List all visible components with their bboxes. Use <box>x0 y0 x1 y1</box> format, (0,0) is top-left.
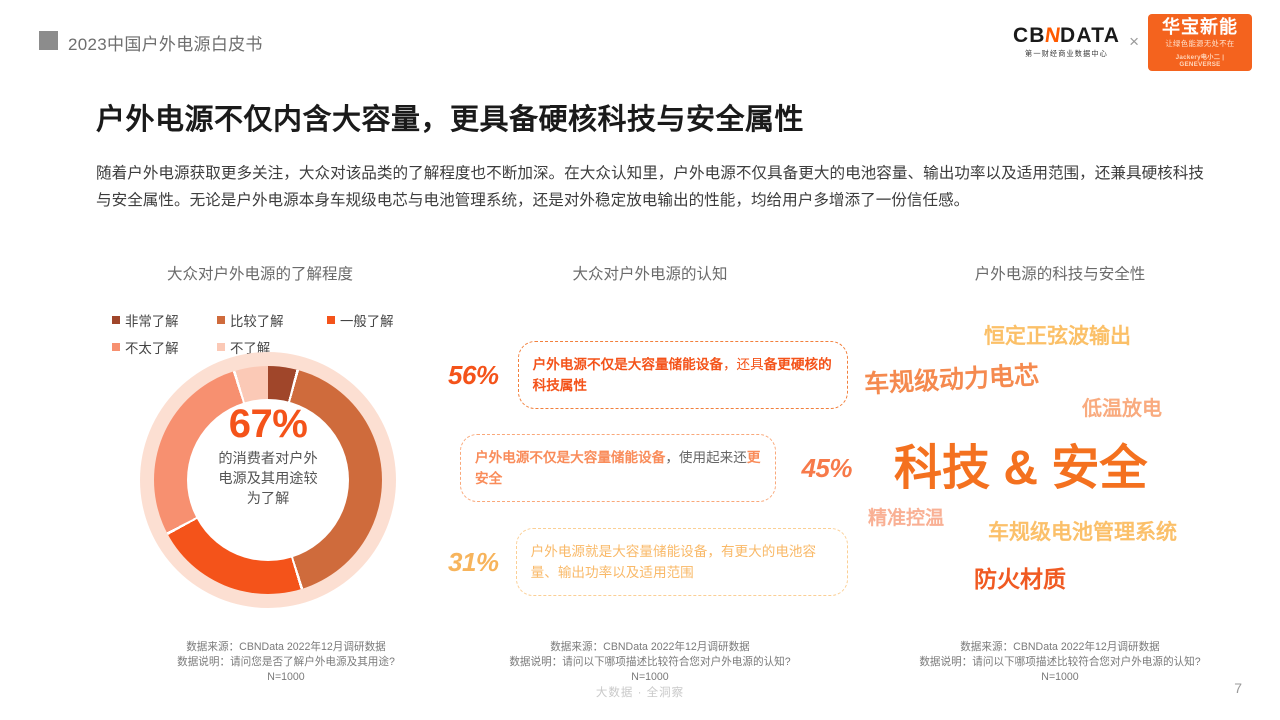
insight-bubble-56[interactable]: 户外电源不仅是大容量储能设备，还具备更硬核的科技属性 <box>518 341 848 409</box>
cbndata-wordmark: CBNDATA <box>1013 25 1120 46</box>
document-label: 2023中国户外电源白皮书 <box>68 30 263 55</box>
cbndata-subtitle: 第一财经商业数据中心 <box>1025 49 1108 59</box>
legend-swatch-icon-0 <box>112 316 120 324</box>
column-left: 大众对户外电源的了解程度 <box>60 262 460 284</box>
footnote-right: 数据来源：CBNData 2022年12月调研数据数据说明：请问以下哪项描述比较… <box>856 640 1264 685</box>
legend-swatch-icon-1 <box>217 316 225 324</box>
legend-item-1[interactable]: 比较了解 <box>217 310 327 330</box>
donut-chart: 67% 的消费者对户外电源及其用途较为了解 <box>140 352 396 608</box>
word-cloud-term-5: 车规级电池管理系统 <box>988 516 1177 546</box>
insight-percent-31: 31% <box>448 547 516 578</box>
page-header: 2023中国户外电源白皮书 CBNDATA 第一财经商业数据中心 × 华宝新能 … <box>0 0 1280 72</box>
huabao-name: 华宝新能 <box>1155 18 1245 37</box>
legend-label-1: 比较了解 <box>230 310 284 330</box>
word-cloud-term-2: 低温放电 <box>1082 392 1162 421</box>
logo-group: CBNDATA 第一财经商业数据中心 × 华宝新能 让绿色能源无处不在 Jack… <box>1013 14 1252 71</box>
page-number: 7 <box>1234 680 1242 696</box>
intro-paragraph: 随着户外电源获取更多关注，大众对该品类的了解程度也不断加深。在大众认知里，户外电… <box>96 160 1204 214</box>
left-column-heading: 大众对户外电源的了解程度 <box>60 262 460 284</box>
word-cloud-term-4: 精准控温 <box>868 503 944 530</box>
legend-swatch-icon-2 <box>327 316 335 324</box>
watermark: 大数据 · 全洞察 <box>0 684 1280 700</box>
legend-label-0: 非常了解 <box>125 310 179 330</box>
page-title: 户外电源不仅内含大容量，更具备硬核科技与安全属性 <box>96 96 804 138</box>
insight-bubble-45[interactable]: 户外电源不仅是大容量储能设备，使用起来还更安全 <box>460 434 776 502</box>
footnote-mid: 数据来源：CBNData 2022年12月调研数据数据说明：请问以下哪项描述比较… <box>448 640 852 685</box>
legend-row-1: 非常了解 比较了解 一般了解 <box>112 310 442 330</box>
legend-item-2[interactable]: 一般了解 <box>327 310 394 330</box>
donut-center-percent: 67% <box>186 404 350 444</box>
word-cloud-term-0: 恒定正弦波输出 <box>984 320 1131 350</box>
cbndata-x-glyph: N <box>1043 25 1062 46</box>
footnote-left: 数据来源：CBNData 2022年12月调研数据数据说明：请问您是否了解户外电… <box>76 640 496 685</box>
column-right: 户外电源的科技与安全性 <box>856 262 1264 284</box>
donut-center-block: 67% 的消费者对户外电源及其用途较为了解 <box>186 404 350 509</box>
word-cloud-term-1: 车规级动力电芯 <box>863 355 1040 400</box>
word-cloud-term-6: 防火材质 <box>974 560 1066 594</box>
insight-percent-45: 45% <box>776 453 852 484</box>
insight-bubble-31[interactable]: 户外电源就是大容量储能设备，有更大的电池容量、输出功率以及适用范围 <box>516 528 848 596</box>
insight-row-31: 31% 户外电源就是大容量储能设备，有更大的电池容量、输出功率以及适用范围 <box>448 528 848 596</box>
insight-text-31: 户外电源就是大容量储能设备，有更大的电池容量、输出功率以及适用范围 <box>531 541 833 583</box>
legend-label-2: 一般了解 <box>340 310 394 330</box>
insight-row-45: 户外电源不仅是大容量储能设备，使用起来还更安全 45% <box>460 434 856 502</box>
word-cloud: 恒定正弦波输出车规级动力电芯低温放电科技 & 安全精准控温车规级电池管理系统防火… <box>856 320 1266 610</box>
insight-percent-56: 56% <box>448 360 518 391</box>
legend-swatch-icon-4 <box>217 343 225 351</box>
insight-text-45: 户外电源不仅是大容量储能设备，使用起来还更安全 <box>475 447 761 489</box>
mid-column-heading: 大众对户外电源的认知 <box>448 262 852 284</box>
huabao-slogan: 让绿色能源无处不在 <box>1155 39 1245 49</box>
huabao-logo: 华宝新能 让绿色能源无处不在 Jackery电小二 | GENEVERSE <box>1148 14 1252 71</box>
insight-text-56: 户外电源不仅是大容量储能设备，还具备更硬核的科技属性 <box>533 354 833 396</box>
header-square-marker <box>39 31 58 50</box>
huabao-brands: Jackery电小二 | GENEVERSE <box>1155 52 1245 68</box>
column-middle: 大众对户外电源的认知 <box>448 262 852 284</box>
right-column-heading: 户外电源的科技与安全性 <box>856 262 1264 284</box>
legend-swatch-icon-3 <box>112 343 120 351</box>
word-cloud-term-3: 科技 & 安全 <box>894 428 1147 498</box>
legend-item-0[interactable]: 非常了解 <box>112 310 217 330</box>
cbndata-logo: CBNDATA 第一财经商业数据中心 <box>1013 25 1120 59</box>
insight-row-56: 56% 户外电源不仅是大容量储能设备，还具备更硬核的科技属性 <box>448 341 848 409</box>
donut-center-caption: 的消费者对户外电源及其用途较为了解 <box>186 449 350 509</box>
logo-separator-icon: × <box>1129 32 1139 52</box>
